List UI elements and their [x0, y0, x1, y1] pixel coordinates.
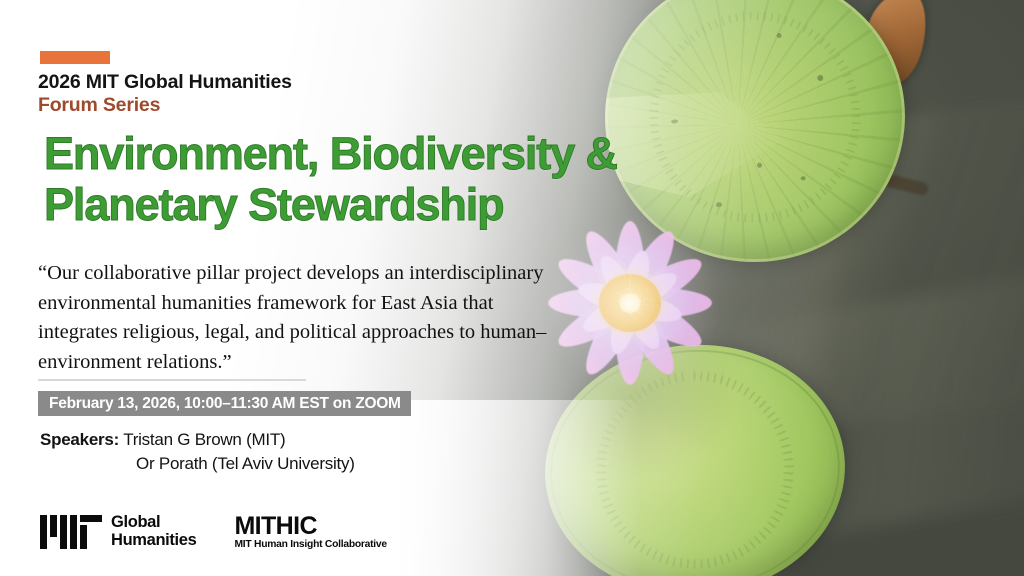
series-title-line2: Forum Series — [38, 94, 292, 117]
description-quote: “Our collaborative pillar project develo… — [38, 259, 648, 377]
speakers-label: Speakers: — [40, 430, 119, 449]
page-title: Environment, Biodiversity & Planetary St… — [44, 129, 684, 231]
mithic-logo: MITHIC MIT Human Insight Collaborative — [234, 514, 386, 550]
poster-content: 2026 MIT Global Humanities Forum Series … — [0, 0, 1024, 576]
quote-line2: environmental humanities framework for E… — [38, 289, 648, 319]
horizontal-divider — [38, 379, 306, 381]
poster-canvas: 2026 MIT Global Humanities Forum Series … — [0, 0, 1024, 576]
quote-line1: “Our collaborative pillar project develo… — [38, 259, 648, 289]
quote-line4: environment relations.” — [38, 348, 648, 378]
speakers-block: Speakers: Tristan G Brown (MIT) Or Porat… — [40, 428, 355, 476]
mit-logo-line1: Global — [111, 514, 196, 532]
speaker-name-1: Tristan G Brown (MIT) — [123, 430, 285, 449]
mithic-wordmark: MITHIC — [234, 514, 386, 539]
mit-logo-icon — [40, 515, 102, 549]
logo-row: Global Humanities MITHIC MIT Human Insig… — [40, 514, 387, 550]
quote-line3: integrates religious, legal, and politic… — [38, 318, 648, 348]
page-title-line1: Environment, Biodiversity & — [44, 129, 684, 180]
orange-accent-bar — [40, 51, 110, 64]
series-eyebrow: 2026 MIT Global Humanities Forum Series — [38, 71, 292, 117]
speaker-name-2: Or Porath (Tel Aviv University) — [40, 452, 355, 476]
event-datetime-badge: February 13, 2026, 10:00–11:30 AM EST on… — [38, 391, 411, 416]
speakers-row1: Speakers: Tristan G Brown (MIT) — [40, 430, 285, 449]
mit-logo-line2: Humanities — [111, 532, 196, 550]
mit-logo-wordmark: Global Humanities — [111, 514, 196, 550]
series-title-line1: 2026 MIT Global Humanities — [38, 71, 292, 94]
mit-global-humanities-logo: Global Humanities — [40, 514, 196, 550]
mithic-tagline: MIT Human Insight Collaborative — [234, 540, 386, 550]
page-title-line2: Planetary Stewardship — [44, 180, 684, 231]
